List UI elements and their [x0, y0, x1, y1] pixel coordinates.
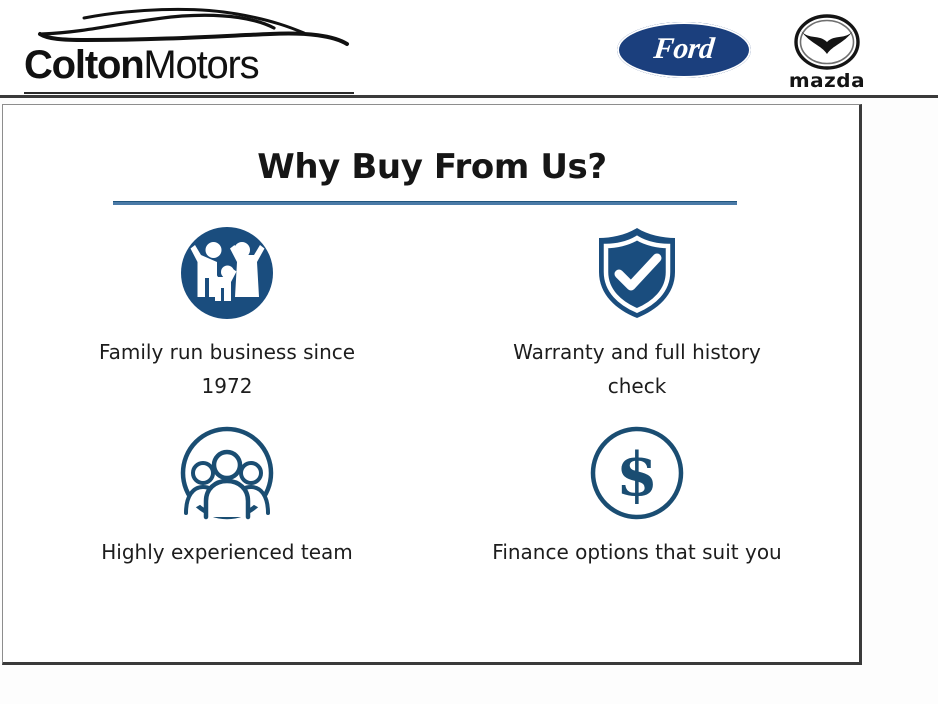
feature-item-finance: $ Finance options that suit you	[432, 425, 842, 625]
family-icon	[179, 225, 275, 321]
ford-oval-icon: Ford	[617, 22, 751, 78]
mazda-logo[interactable]: mazda	[785, 14, 869, 94]
ford-logo[interactable]: Ford	[617, 22, 751, 78]
colton-motors-logo[interactable]: ColtonMotors	[22, 6, 352, 92]
dollar-sign-icon: $	[589, 425, 685, 521]
mazda-label: mazda	[783, 70, 871, 92]
page-header: ColtonMotors Ford mazda	[0, 0, 938, 98]
svg-text:$: $	[616, 440, 658, 510]
content-panel: Why Buy From Us? Family run business sin…	[2, 104, 862, 665]
page-title: Why Buy From Us?	[3, 147, 861, 187]
feature-item-warranty: Warranty and full history check	[432, 225, 842, 425]
brand-wordmark: ColtonMotors	[24, 42, 354, 88]
shield-check-icon	[589, 225, 685, 321]
ford-label: Ford	[652, 32, 715, 66]
feature-label: Warranty and full history check	[487, 335, 787, 403]
feature-item-team: Highly experienced team	[22, 425, 432, 625]
feature-label: Finance options that suit you	[487, 535, 787, 569]
brand-name-bold: Colton	[24, 43, 143, 87]
brand-underline	[24, 92, 354, 94]
feature-grid: Family run business since 1972 Warranty …	[3, 225, 861, 625]
feature-label: Highly experienced team	[82, 535, 372, 569]
mazda-wings-icon	[793, 14, 861, 70]
team-group-icon	[179, 425, 275, 521]
feature-item-family: Family run business since 1972	[22, 225, 432, 425]
brand-name-light: Motors	[143, 43, 258, 87]
feature-label: Family run business since 1972	[82, 335, 372, 403]
title-divider	[113, 201, 737, 205]
